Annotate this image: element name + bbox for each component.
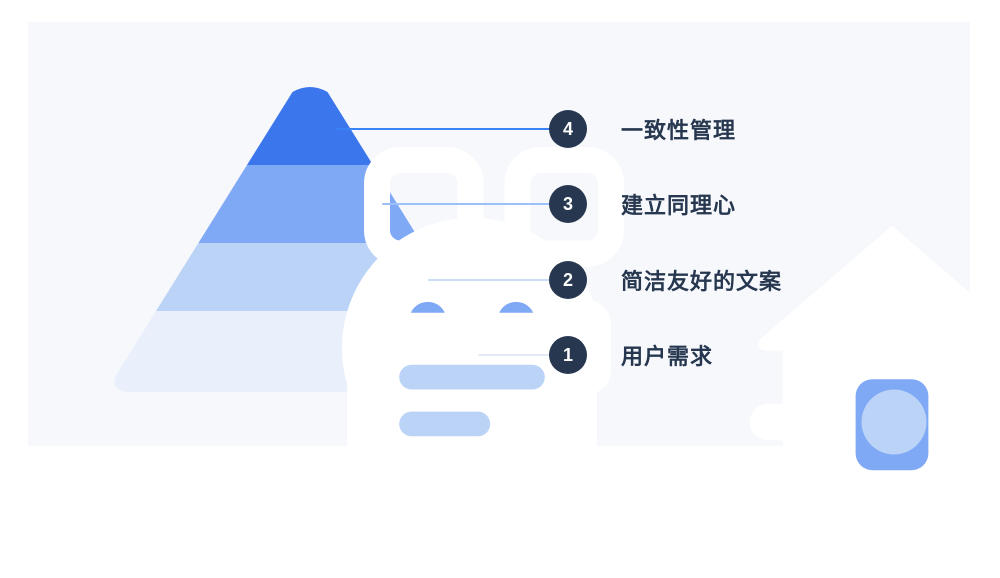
legend-row-1[interactable]: 1 用户需求	[549, 333, 713, 377]
legend-row-2[interactable]: 2 简洁友好的文案	[549, 258, 782, 302]
step-label-2: 简洁友好的文案	[621, 264, 782, 296]
step-badge-4: 4	[549, 110, 587, 148]
connector-line-4	[335, 128, 560, 130]
chat-bubble-icon	[272, 266, 672, 578]
step-label-1: 用户需求	[621, 339, 713, 371]
step-badge-1: 1	[549, 336, 587, 374]
connector-line-2	[428, 279, 560, 281]
step-badge-2: 2	[549, 261, 587, 299]
connector-line-3	[382, 203, 560, 205]
step-label-4: 一致性管理	[621, 113, 736, 145]
legend-row-3[interactable]: 3 建立同理心	[549, 182, 736, 226]
legend-row-4[interactable]: 4 一致性管理	[549, 107, 736, 151]
step-badge-3: 3	[549, 185, 587, 223]
connector-line-1	[478, 354, 560, 356]
target-icon	[694, 266, 1000, 578]
infographic-stage: 4 一致性管理 3 建立同理心 2 简洁友好的文案 1 用户需求	[0, 0, 1000, 446]
step-label-3: 建立同理心	[621, 188, 736, 220]
tier2-icon-group	[272, 266, 1000, 578]
pyramid-graphic	[110, 86, 510, 398]
